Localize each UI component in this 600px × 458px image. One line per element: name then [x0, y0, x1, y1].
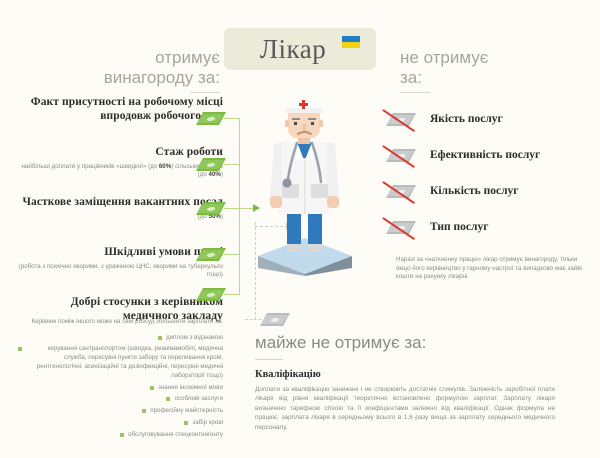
infographic-canvas: Лікар отримує винагороду за: не отримує … [0, 0, 600, 458]
bullet-label: забір крові [192, 419, 223, 428]
right-column-note: Наразі за «натхненну працю» лікар отриму… [396, 256, 588, 282]
left-reward-list: Факт присутності на робочому місці впрод… [18, 96, 223, 329]
list-item: Факт присутності на робочому місці впрод… [18, 96, 223, 140]
right-item-label: Тип послуг [430, 221, 488, 233]
left-header-rule [190, 92, 220, 93]
manager-note-block: Керівник поміж іншого може на свій розсу… [18, 318, 223, 443]
bullet-square-icon [166, 397, 170, 401]
list-item: Кількість послуг [386, 180, 586, 216]
title-panel: Лікар [224, 28, 376, 70]
money-icon [196, 158, 226, 171]
bullet-label: професійну майстерність [150, 407, 223, 416]
bullet-label: особливі заслуги [174, 395, 223, 404]
manager-note: Керівник поміж іншого може на свій розсу… [18, 318, 223, 327]
left-item-title: Стаж роботи [18, 146, 223, 160]
bullet-label: знання іноземної мови [158, 384, 223, 393]
right-item-label: Якість послуг [430, 113, 503, 125]
right-item-label: Кількість послуг [430, 185, 519, 197]
left-item-title: Шкідливі умови праці [18, 246, 223, 260]
list-item: Часткове заміщення вакантних посад (до 5… [18, 196, 223, 240]
money-icon-crossed [386, 185, 416, 198]
bullet-square-icon [150, 386, 154, 390]
bottom-section: майже не отримує за: Кваліфікацію Доплат… [255, 333, 555, 432]
bullet-square-icon [142, 409, 146, 413]
right-header-rule [400, 92, 430, 93]
bullet-square-icon [184, 421, 188, 425]
bottom-header: майже не отримує за: [255, 333, 555, 353]
money-icon-crossed [386, 113, 416, 126]
bonus-bullet-list: диплом з відзнакою керування сантранспор… [18, 334, 223, 440]
list-item: Тип послуг [386, 216, 586, 252]
list-item: Ефективність послуг [386, 144, 586, 180]
bottom-subheader: Кваліфікацію [255, 369, 555, 380]
bullet-square-icon [18, 347, 22, 351]
money-icon [196, 112, 226, 125]
money-icon [196, 202, 226, 215]
left-header-line1: отримує [30, 48, 220, 68]
bullet-label: диплом з відзнакою [166, 334, 223, 343]
right-header-line1: не отримує [400, 48, 590, 68]
left-item-subtext: найбільші доплати у працівників «швидкої… [18, 163, 223, 180]
doctor-figure [252, 96, 358, 276]
left-item-subtext: (робота з психічно хворими, з ураженою Ц… [18, 263, 223, 280]
list-item: обслуговування спецконтингенту [18, 431, 223, 440]
bullet-label: керування сантранспортом (швидка, реанім… [26, 345, 223, 380]
list-item: професійну майстерність [18, 407, 223, 416]
bottom-body-text: Доплати за кваліфікацію занижені і не ст… [255, 385, 555, 432]
right-not-paid-list: Якість послуг Ефективність послуг Кількі… [386, 108, 586, 252]
bullet-label: обслуговування спецконтингенту [128, 431, 223, 440]
left-header-line2: винагороду за: [30, 68, 220, 88]
money-icon-disabled [260, 313, 290, 326]
money-icon [196, 288, 226, 301]
page-title: Лікар [224, 28, 376, 70]
left-item-subtext: (до 50%) [18, 213, 223, 221]
right-column-header: не отримує за: [400, 48, 590, 88]
left-item-title: Факт присутності на робочому місці впрод… [18, 96, 223, 123]
list-item: знання іноземної мови [18, 384, 223, 393]
bullet-square-icon [120, 433, 124, 437]
right-item-label: Ефективність послуг [430, 149, 540, 161]
money-icon [196, 248, 226, 261]
left-item-title: Часткове заміщення вакантних посад [18, 196, 223, 210]
list-item: диплом з відзнакою [18, 334, 223, 343]
right-header-line2: за: [400, 68, 590, 88]
list-item: керування сантранспортом (швидка, реанім… [18, 345, 223, 380]
list-item: Якість послуг [386, 108, 586, 144]
connector-line [224, 118, 240, 119]
list-item: забір крові [18, 419, 223, 428]
dashed-connector-horizontal [245, 319, 261, 320]
money-icon-crossed [386, 149, 416, 162]
connector-spine [239, 118, 240, 294]
bottom-rule [255, 359, 283, 360]
money-icon-crossed [386, 221, 416, 234]
ukraine-flag-icon [342, 36, 360, 48]
connector-line [224, 294, 240, 295]
connector-line [224, 164, 240, 165]
connector-line [224, 254, 240, 255]
list-item: Шкідливі умови праці (робота з психічно … [18, 246, 223, 290]
list-item: Стаж роботи найбільші доплати у працівни… [18, 146, 223, 190]
list-item: особливі заслуги [18, 395, 223, 404]
bullet-square-icon [158, 336, 162, 340]
left-column-header: отримує винагороду за: [30, 48, 220, 88]
